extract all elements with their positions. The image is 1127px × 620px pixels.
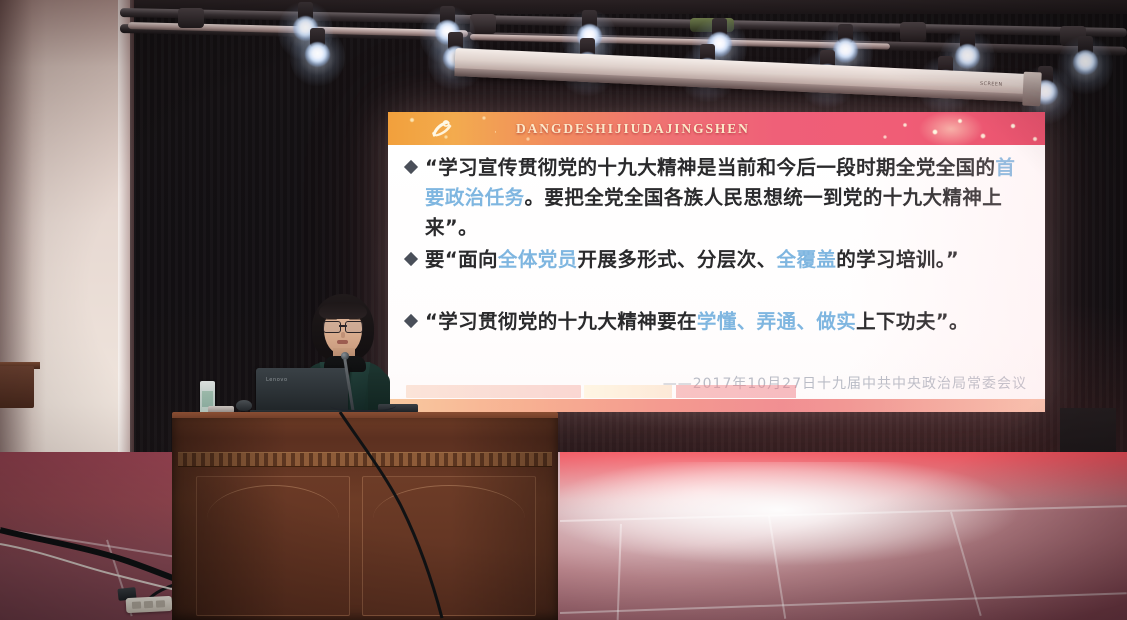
presenter-eyebrow <box>349 318 362 320</box>
truss-clamp <box>178 8 204 28</box>
screen-case-badge: SCREEN <box>980 81 1003 88</box>
slide-footer-bar <box>388 399 1045 412</box>
podium-cable <box>330 412 570 620</box>
bullet-diamond-icon <box>404 314 418 328</box>
bullet-diamond-icon <box>404 252 418 266</box>
bullet-highlight-text: 学懂、弄通、做实 <box>697 310 856 333</box>
presenter-eyebrow <box>324 318 337 320</box>
slide-body: “学习宣传贯彻党的十九大精神是当前和今后一段时期全党全国的首要政治任务。要把全党… <box>388 145 1045 412</box>
slide-bullet-3: “学习贯彻党的十九大精神要在学懂、弄通、做实上下功夫”。 <box>406 307 1028 337</box>
slide-footer-tag-left <box>406 385 581 398</box>
bullet-plain-text: 开展多形式、分层次、 <box>578 248 777 271</box>
slide-footer-tag-mid <box>584 385 672 398</box>
bullet-plain-text: 的学习培训。” <box>836 248 959 271</box>
bullet-plain-text: 要“面向 <box>425 248 498 271</box>
projection-screen: · DANGDESHIJIUDAJINGSHEN “学习宣传贯彻党的十九大精神是… <box>388 112 1045 412</box>
presenter-fringe <box>319 302 367 319</box>
slide-header-banner: · DANGDESHIJIUDAJINGSHEN <box>388 112 1045 145</box>
slide-bullet-1: “学习宣传贯彻党的十九大精神是当前和今后一段时期全党全国的首要政治任务。要把全党… <box>406 153 1028 243</box>
power-socket <box>144 601 153 608</box>
bullet-plain-text: “学习宣传贯彻党的十九大精神是当前和今后一段时期全党全国的 <box>425 156 995 179</box>
cpc-party-emblem-icon <box>430 118 454 139</box>
bullet-text: “学习宣传贯彻党的十九大精神是当前和今后一段时期全党全国的首要政治任务。要把全党… <box>425 153 1028 243</box>
power-socket <box>156 600 165 607</box>
side-table <box>0 366 34 408</box>
presenter-mouth <box>337 340 348 344</box>
bullet-highlight-text: 全覆盖 <box>777 248 837 271</box>
power-socket <box>132 601 141 608</box>
floor-highlight-pool <box>520 462 1040 582</box>
presenter-nose <box>341 332 345 338</box>
bullet-diamond-icon <box>404 160 418 174</box>
bullet-plain-text: “学习贯彻党的十九大精神要在 <box>425 310 697 333</box>
lecture-hall-photo: SCREEN · DANGDESHIJIUDAJINGSHEN “学习宣传贯彻党… <box>0 0 1127 620</box>
slide-banner-title: DANGDESHIJIUDAJINGSHEN <box>516 121 750 137</box>
slide-bullet-2: 要“面向全体党员开展多形式、分层次、全覆盖的学习培训。” <box>406 245 1028 275</box>
bullet-plain-text: 上下功夫”。 <box>856 310 969 333</box>
laptop-brand-label: Lenovo <box>266 377 288 383</box>
truss-clamp <box>900 22 926 42</box>
microphone-cable <box>330 396 396 412</box>
slide-footer-tag-right <box>676 385 796 398</box>
screen-case-end-cap <box>1022 72 1042 107</box>
bullet-text: “学习贯彻党的十九大精神要在学懂、弄通、做实上下功夫”。 <box>425 307 969 337</box>
bottle-label <box>202 391 213 407</box>
banner-sparkle-right <box>755 112 1045 145</box>
glasses-lens <box>323 321 341 333</box>
banner-separator-dot: · <box>494 128 502 136</box>
glasses-lens <box>345 321 363 333</box>
bullet-highlight-text: 全体党员 <box>498 248 578 271</box>
power-strip <box>126 596 173 613</box>
eyeglasses-icon <box>322 321 364 332</box>
bullet-text: 要“面向全体党员开展多形式、分层次、全覆盖的学习培训。” <box>425 245 959 275</box>
